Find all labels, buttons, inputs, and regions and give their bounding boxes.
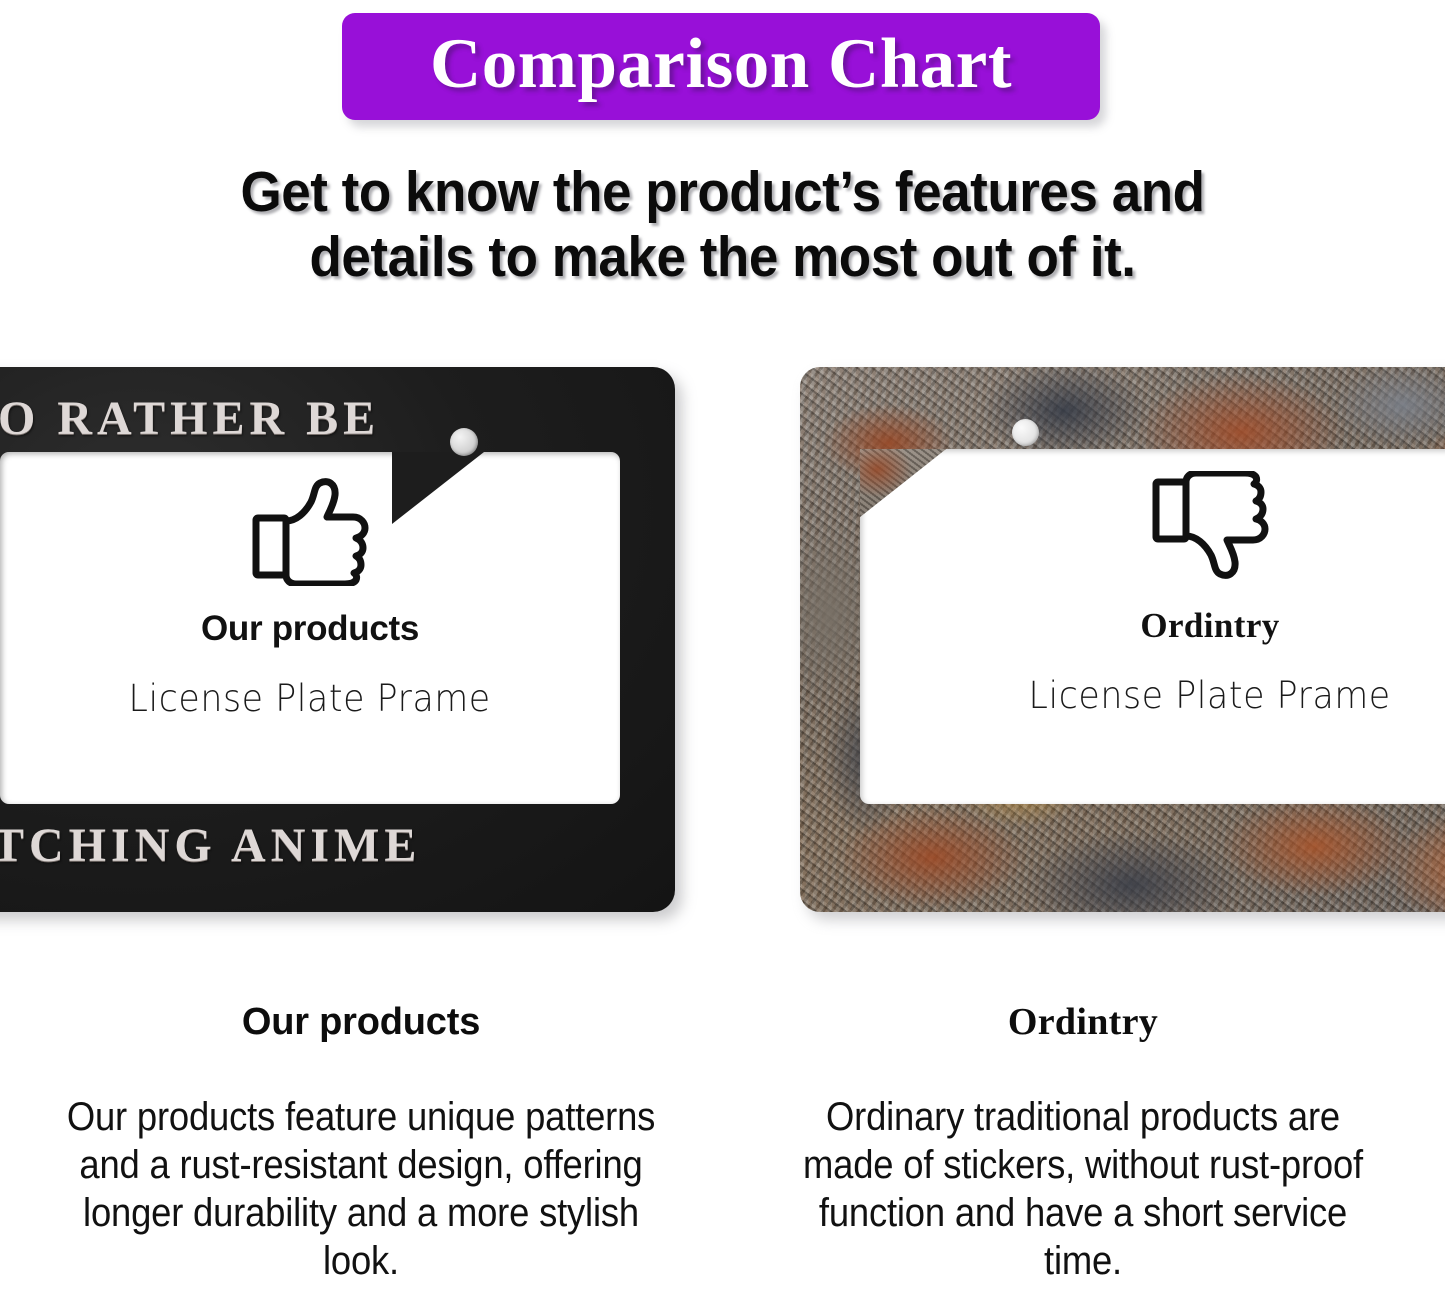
- subtitle-line-2: details to make the most out of it.: [51, 225, 1395, 290]
- our-product-license-plate-frame: O RATHER BE TCHING ANIME Our products Li…: [0, 367, 675, 912]
- ordinary-body-text: Ordinary traditional products are made o…: [784, 1093, 1383, 1285]
- ordinary-description-column: Ordintry Ordinary traditional products a…: [722, 985, 1444, 1314]
- thumbs-down-icon: [1150, 471, 1270, 588]
- title-banner: Comparison Chart: [342, 13, 1100, 120]
- our-plate-brand: Our products: [201, 611, 419, 646]
- mounting-hole-icon: [1012, 419, 1039, 446]
- ordinary-product-license-plate-frame: Ordintry License Plate Prame: [800, 367, 1445, 912]
- our-plate-window: Our products License Plate Prame: [0, 452, 620, 804]
- ordinary-plate-brand: Ordintry: [1140, 608, 1279, 643]
- frame-deco-text-bottom: TCHING ANIME: [0, 822, 421, 870]
- page-title: Comparison Chart: [430, 29, 1012, 104]
- subtitle-block: Get to know the product’s features and d…: [0, 160, 1445, 290]
- our-plate-content: Our products License Plate Prame: [0, 452, 620, 804]
- our-plate-subtitle: License Plate Prame: [129, 680, 491, 717]
- our-products-description-column: Our products Our products feature unique…: [0, 985, 722, 1314]
- frame-deco-text-top: O RATHER BE: [0, 395, 380, 443]
- ordinary-plate-subtitle: License Plate Prame: [1029, 677, 1391, 714]
- mounting-hole-icon: [450, 428, 478, 456]
- our-products-body-text: Our products feature unique patterns and…: [62, 1093, 661, 1285]
- subtitle-line-1: Get to know the product’s features and: [51, 160, 1395, 225]
- ordinary-plate-window: Ordintry License Plate Prame: [860, 449, 1445, 804]
- header-area: Comparison Chart Get to know the product…: [0, 0, 1445, 320]
- comparison-descriptions: Our products Our products feature unique…: [0, 985, 1445, 1314]
- ordinary-plate-content: Ordintry License Plate Prame: [860, 449, 1445, 804]
- our-products-heading: Our products: [32, 1003, 690, 1041]
- product-comparison-frames: O RATHER BE TCHING ANIME Our products Li…: [0, 355, 1445, 925]
- ordinary-heading: Ordintry: [754, 1003, 1412, 1041]
- thumbs-up-icon: [250, 474, 370, 591]
